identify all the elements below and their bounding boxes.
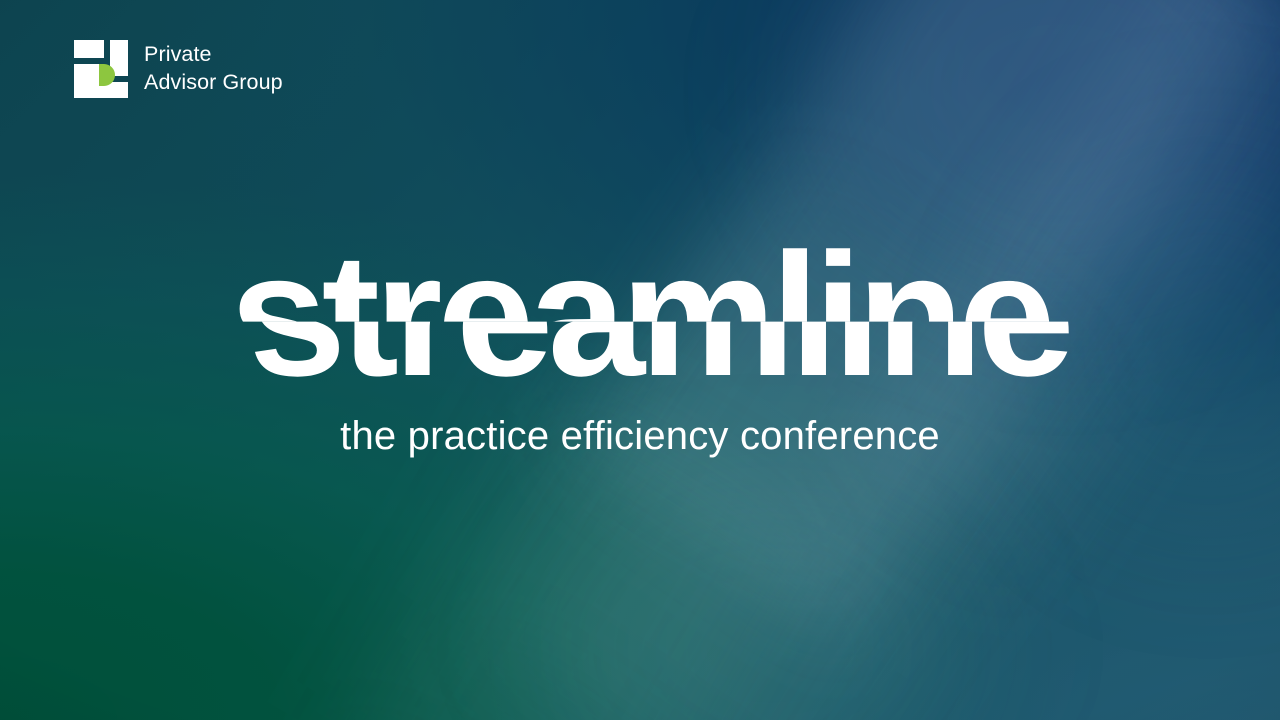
hero-wordmark: streamline streamline xyxy=(230,236,1050,396)
brand-logo-wordmark: Private Advisor Group xyxy=(144,41,283,97)
hero-subtitle: the practice efficiency conference xyxy=(0,414,1280,459)
brand-logo-line-1: Private xyxy=(144,41,283,69)
brand-logo-lockup: Private Advisor Group xyxy=(72,38,283,100)
brand-logo-line-2: Advisor Group xyxy=(144,69,283,97)
title-slide: Private Advisor Group streamline streaml… xyxy=(0,0,1280,720)
private-advisor-group-logo-mark xyxy=(72,38,130,100)
hero-wordmark-block: streamline streamline xyxy=(0,236,1280,396)
